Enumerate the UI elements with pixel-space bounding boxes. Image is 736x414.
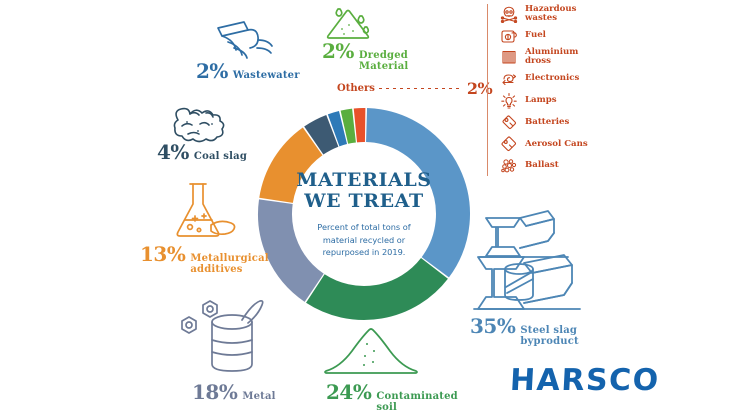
wastewater-icon xyxy=(214,18,276,60)
others-item-label: Fuel xyxy=(525,31,546,40)
others-legend-panel: Hazardous wastes Fuel Aluminium dros xyxy=(487,4,588,176)
battery-icon xyxy=(500,114,518,132)
label-metal-percent: 18% xyxy=(192,382,237,402)
electronics-icon xyxy=(500,70,518,88)
others-item-ballast[interactable]: Ballast xyxy=(500,156,588,176)
others-item-lamps[interactable]: Lamps xyxy=(500,91,588,111)
others-item-label: Aluminium dross xyxy=(525,48,578,67)
metal-can-icon xyxy=(174,296,270,378)
steel-beam-icon xyxy=(464,203,590,321)
donut-segment xyxy=(334,128,343,131)
dredged-pile-icon xyxy=(322,5,374,43)
fuel-can-icon xyxy=(500,27,518,45)
others-item-label: Ballast xyxy=(525,161,559,170)
others-item-label: Lamps xyxy=(525,96,557,105)
label-wastewater-caption: Wastewater xyxy=(233,71,300,82)
lamp-icon xyxy=(500,92,518,110)
label-dredged: 2% Dredged Material xyxy=(322,41,408,72)
others-item-electronics[interactable]: Electronics xyxy=(500,69,588,89)
label-metallurgical-percent: 13% xyxy=(140,244,185,264)
donut-segment xyxy=(314,131,333,141)
others-item-aerosol-cans[interactable]: Aerosol Cans xyxy=(500,134,588,154)
coal-slag-icon xyxy=(168,104,230,144)
donut-segment xyxy=(344,126,354,128)
label-soil-caption: Contaminated soil xyxy=(376,392,458,413)
aerosol-can-icon xyxy=(500,135,518,153)
label-dredged-caption: Dredged Material xyxy=(359,51,408,72)
label-soil-percent: 24% xyxy=(326,382,371,402)
label-wastewater: 2% Wastewater xyxy=(196,61,300,82)
donut-chart xyxy=(250,100,478,328)
donut-segment xyxy=(315,268,434,303)
label-soil: 24% Contaminated soil xyxy=(326,382,458,413)
others-callout-leader-line xyxy=(379,88,463,89)
others-item-label: Electronics xyxy=(525,74,579,83)
label-metal: 18% Metal xyxy=(192,382,276,403)
harsco-logo: HARSCO xyxy=(510,366,660,396)
label-coal-slag-percent: 4% xyxy=(157,142,189,162)
others-item-hazardous-wastes[interactable]: Hazardous wastes xyxy=(500,4,588,24)
label-steel-slag-percent: 35% xyxy=(470,316,515,336)
dross-block-icon xyxy=(500,48,518,66)
harsco-wordmark: HARSCO xyxy=(509,366,660,396)
others-item-label: Hazardous wastes xyxy=(525,5,577,24)
label-metal-caption: Metal xyxy=(242,392,275,403)
others-callout-label: Others xyxy=(337,83,375,94)
label-coal-slag: 4% Coal slag xyxy=(157,142,247,163)
flask-icon xyxy=(168,180,240,244)
label-coal-slag-caption: Coal slag xyxy=(194,152,247,163)
soil-pile-icon xyxy=(321,318,419,378)
label-steel-slag: 35% Steel slag byproduct xyxy=(470,316,579,347)
infographic-canvas: MATERIALS WE TREAT Percent of total tons… xyxy=(0,0,736,414)
label-steel-slag-caption: Steel slag byproduct xyxy=(520,326,579,347)
ballast-icon xyxy=(500,157,518,175)
label-dredged-percent: 2% xyxy=(322,41,354,61)
others-item-label: Batteries xyxy=(525,118,569,127)
label-metallurgical-caption: Metallurgical additives xyxy=(190,254,268,275)
label-wastewater-percent: 2% xyxy=(196,61,228,81)
others-item-batteries[interactable]: Batteries xyxy=(500,113,588,133)
others-item-aluminium-dross[interactable]: Aluminium dross xyxy=(500,47,588,67)
skull-crossbones-icon xyxy=(500,5,518,23)
donut-segment xyxy=(367,125,453,267)
label-metallurgical: 13% Metallurgical additives xyxy=(140,244,269,275)
donut-segment xyxy=(275,202,314,288)
donut-segment xyxy=(276,141,313,200)
others-item-fuel[interactable]: Fuel xyxy=(500,26,588,46)
others-item-label: Aerosol Cans xyxy=(525,140,588,149)
others-callout: Others 2% xyxy=(337,79,492,98)
